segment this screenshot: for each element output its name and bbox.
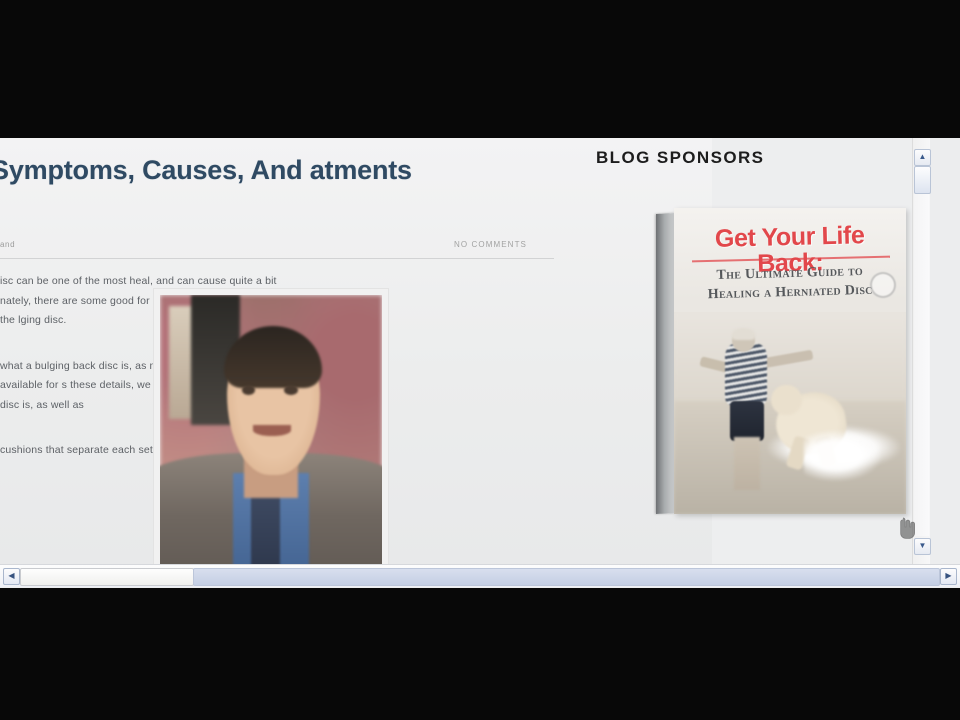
- photo-eye-right: [284, 385, 297, 395]
- post-meta-row: and NO COMMENTS: [0, 240, 554, 259]
- book-subtitle-line-1: The Ultimate Guide to: [716, 264, 863, 283]
- sponsor-ebook-banner[interactable]: Get Your Life Back: The Ultimate Guide t…: [656, 208, 906, 514]
- letterbox-bottom-bar: [0, 588, 960, 720]
- book-subtitle-line-2: Healing a Herniated Disc: [708, 283, 873, 303]
- browser-viewport: al Disc - Symptoms, Causes, And atments …: [0, 138, 960, 588]
- author-photo-image: [160, 295, 382, 577]
- scroll-left-arrow-icon[interactable]: ◀: [3, 568, 20, 585]
- book-cover-photo: [674, 312, 906, 514]
- cover-man-shorts: [730, 401, 765, 441]
- book-spine: [656, 213, 675, 514]
- book-subtitle: The Ultimate Guide to Healing a Herniate…: [684, 261, 897, 305]
- horizontal-scrollbar-thumb[interactable]: [20, 568, 194, 586]
- blog-post-article: al Disc - Symptoms, Causes, And atments …: [0, 152, 582, 189]
- horizontal-scrollbar[interactable]: ◀ ▶: [0, 564, 960, 587]
- vertical-scrollbar-thumb[interactable]: [914, 166, 931, 194]
- sidebar: BLOG SPONSORS Get Your Life Back: The Ul…: [588, 148, 928, 168]
- page-title: al Disc - Symptoms, Causes, And atments: [0, 152, 482, 189]
- cover-man-legs: [734, 437, 760, 490]
- author-photo: [154, 289, 388, 577]
- web-page-canvas: al Disc - Symptoms, Causes, And atments …: [0, 138, 930, 564]
- cover-dog-head: [771, 385, 801, 415]
- vertical-scrollbar[interactable]: ▲ ▼: [912, 138, 930, 564]
- cover-man-striped-shirt: [725, 344, 767, 405]
- post-comments-link[interactable]: NO COMMENTS: [454, 240, 527, 249]
- photo-smile: [253, 425, 291, 436]
- cover-man-hair: [732, 328, 755, 340]
- letterbox-top-bar: [0, 0, 960, 138]
- screen-capture-stage: al Disc - Symptoms, Causes, And atments …: [0, 0, 960, 720]
- book-front-cover: Get Your Life Back: The Ultimate Guide t…: [674, 208, 906, 514]
- blog-sponsors-heading: BLOG SPONSORS: [596, 148, 928, 168]
- horizontal-scrollbar-track[interactable]: [193, 568, 940, 586]
- vertical-scrollbar-track[interactable]: [914, 194, 929, 536]
- cover-water-splash: [804, 429, 883, 482]
- book-seal-icon: [870, 272, 896, 298]
- post-date: and: [0, 240, 15, 249]
- scroll-down-arrow-icon[interactable]: ▼: [914, 538, 931, 555]
- scroll-right-arrow-icon[interactable]: ▶: [940, 568, 957, 585]
- scroll-up-arrow-icon[interactable]: ▲: [914, 149, 931, 166]
